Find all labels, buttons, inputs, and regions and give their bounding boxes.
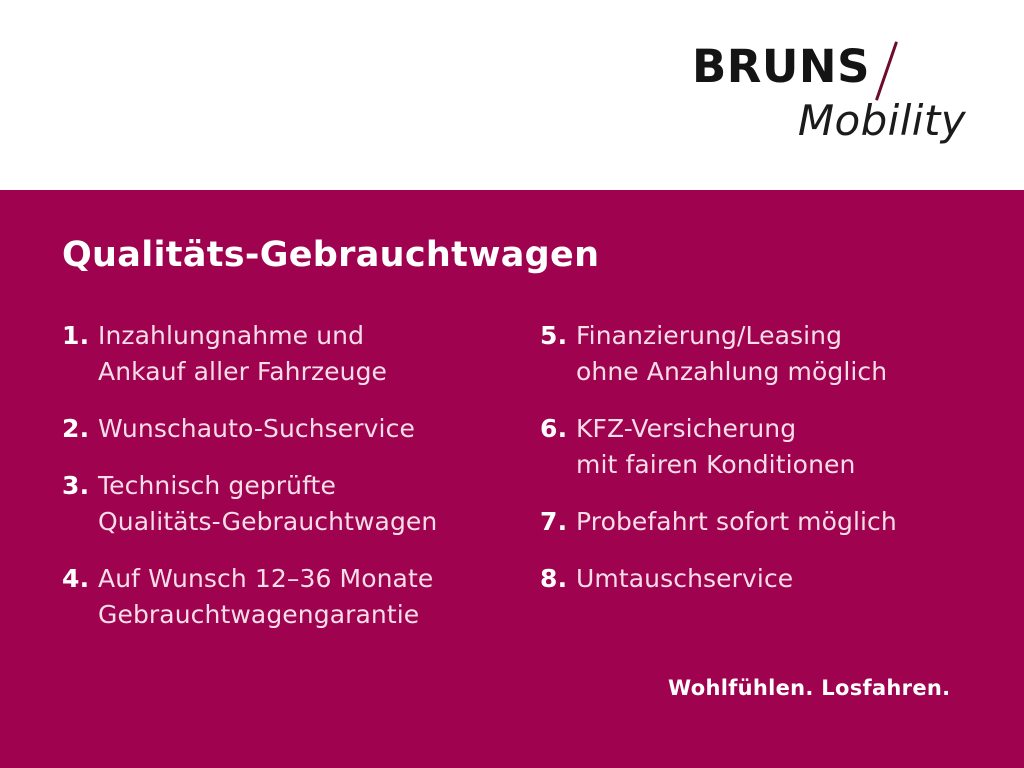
list-item-text: Inzahlungnahme und Ankauf aller Fahrzeug… <box>98 318 532 390</box>
page-title: Qualitäts-Gebrauchtwagen <box>62 238 599 273</box>
list-item-number: 5. <box>540 318 576 354</box>
list-item-text: Probefahrt sofort möglich <box>576 504 990 540</box>
list-item: 5. Finanzierung/Leasing ohne Anzahlung m… <box>540 318 990 390</box>
list-item-line: Inzahlungnahme und <box>98 321 364 350</box>
list-item-number: 2. <box>62 411 98 447</box>
list-item-number: 4. <box>62 561 98 597</box>
feature-column-left: 1. Inzahlungnahme und Ankauf aller Fahrz… <box>62 318 532 654</box>
list-item-number: 8. <box>540 561 576 597</box>
list-item-number: 3. <box>62 468 98 504</box>
brand-tagline: Wohlfühlen. Losfahren. <box>668 678 950 699</box>
list-item-line: Qualitäts-Gebrauchtwagen <box>98 504 532 540</box>
list-item-line: Umtauschservice <box>576 564 793 593</box>
list-item-number: 1. <box>62 318 98 354</box>
list-item: 8. Umtauschservice <box>540 561 990 597</box>
list-item-line: mit fairen Konditionen <box>576 447 990 483</box>
list-item: 1. Inzahlungnahme und Ankauf aller Fahrz… <box>62 318 532 390</box>
list-item-text: Umtauschservice <box>576 561 990 597</box>
list-item-line: Wunschauto-Suchservice <box>98 414 415 443</box>
list-item: 6. KFZ-Versicherung mit fairen Kondition… <box>540 411 990 483</box>
list-item-line: Probefahrt sofort möglich <box>576 507 897 536</box>
feature-column-right: 5. Finanzierung/Leasing ohne Anzahlung m… <box>540 318 990 618</box>
list-item-number: 7. <box>540 504 576 540</box>
list-item-text: KFZ-Versicherung mit fairen Konditionen <box>576 411 990 483</box>
slide-root: BRUNS Mobility Qualitäts-Gebrauchtwagen … <box>0 0 1024 768</box>
list-item-line: Gebrauchtwagengarantie <box>98 597 532 633</box>
list-item-number: 6. <box>540 411 576 447</box>
list-item: 2. Wunschauto-Suchservice <box>62 411 532 447</box>
list-item-text: Auf Wunsch 12–36 Monate Gebrauchtwagenga… <box>98 561 532 633</box>
list-item: 3. Technisch geprüfte Qualitäts-Gebrauch… <box>62 468 532 540</box>
list-item-line: Ankauf aller Fahrzeuge <box>98 354 532 390</box>
list-item-line: Auf Wunsch 12–36 Monate <box>98 564 433 593</box>
list-item: 4. Auf Wunsch 12–36 Monate Gebrauchtwage… <box>62 561 532 633</box>
list-item-line: Technisch geprüfte <box>98 471 336 500</box>
list-item-line: KFZ-Versicherung <box>576 414 796 443</box>
list-item-line: ohne Anzahlung möglich <box>576 354 990 390</box>
list-item-text: Technisch geprüfte Qualitäts-Gebrauchtwa… <box>98 468 532 540</box>
list-item-text: Finanzierung/Leasing ohne Anzahlung mögl… <box>576 318 990 390</box>
list-item-text: Wunschauto-Suchservice <box>98 411 532 447</box>
list-item: 7. Probefahrt sofort möglich <box>540 504 990 540</box>
list-item-line: Finanzierung/Leasing <box>576 321 842 350</box>
panel-content: Qualitäts-Gebrauchtwagen 1. Inzahlungnah… <box>0 0 1024 768</box>
